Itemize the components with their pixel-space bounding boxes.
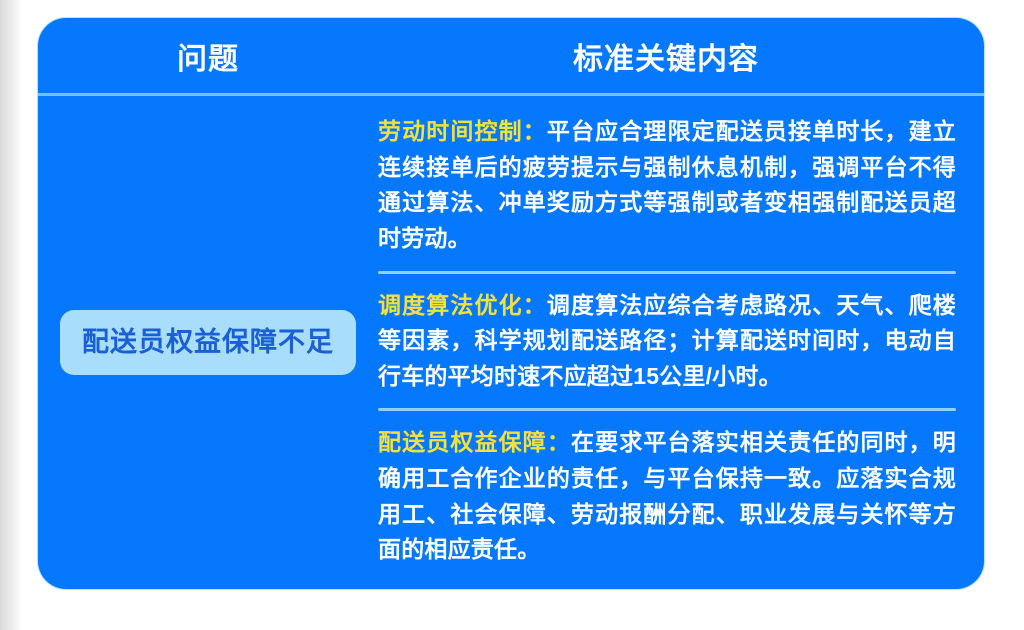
standards-block-term: 劳动时间控制： [378, 118, 547, 144]
standards-block: 调度算法优化：调度算法应综合考虑路况、天气、爬楼等因素，科学规划配送路径；计算配… [378, 288, 956, 395]
standards-block-separator [378, 408, 956, 411]
header-question-column-title: 问题 [38, 34, 378, 78]
standards-block-term: 配送员权益保障： [378, 429, 571, 455]
standards-block-term: 调度算法优化： [378, 292, 547, 318]
table-header-row: 问题 标准关键内容 [38, 18, 984, 93]
standards-block-separator [378, 271, 956, 274]
header-content-column-title: 标准关键内容 [378, 34, 984, 78]
standards-block: 配送员权益保障：在要求平台落实相关责任的同时，明确用工合作企业的责任，与平台保持… [378, 425, 956, 568]
issue-column: 配送员权益保障不足 [38, 96, 378, 589]
table-body-row: 配送员权益保障不足 劳动时间控制：平台应合理限定配送员接单时长，建立连续接单后的… [38, 96, 984, 589]
standards-table-card: 问题 标准关键内容 配送员权益保障不足 劳动时间控制：平台应合理限定配送员接单时… [38, 18, 984, 589]
issue-label-pill: 配送员权益保障不足 [60, 310, 356, 376]
standards-content-column: 劳动时间控制：平台应合理限定配送员接单时长，建立连续接单后的疲劳提示与强制休息机… [378, 96, 984, 589]
left-edge-gradient-strip [0, 0, 22, 630]
standards-block: 劳动时间控制：平台应合理限定配送员接单时长，建立连续接单后的疲劳提示与强制休息机… [378, 114, 956, 257]
